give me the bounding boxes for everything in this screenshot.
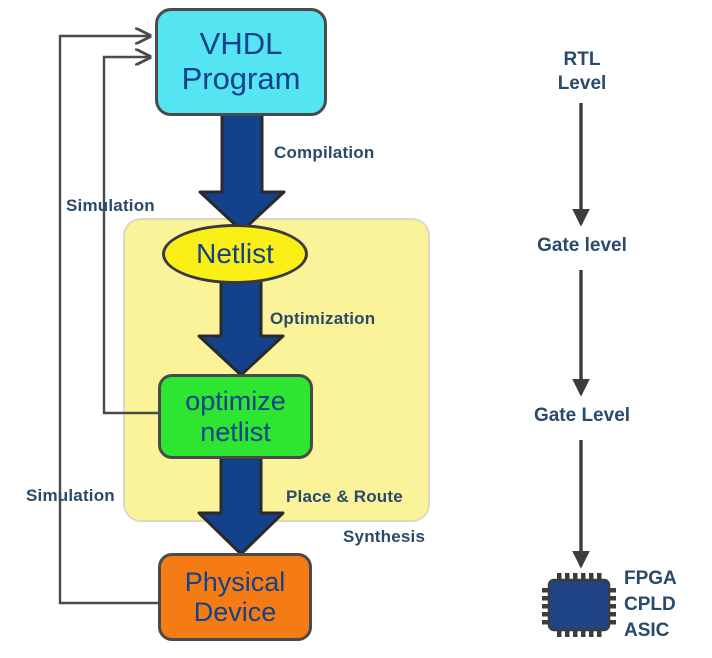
node-netlist[interactable]: Netlist: [162, 224, 308, 284]
node-optimize-netlist[interactable]: optimize netlist: [158, 374, 313, 459]
vhdl-label-line1: VHDL: [182, 27, 301, 62]
abstraction-label-gate-level-2: Gate Level: [520, 404, 644, 428]
edge-label-simulation-top: Simulation: [66, 196, 155, 216]
physical-label-line2: Device: [185, 597, 286, 627]
edge-label-compilation: Compilation: [274, 143, 374, 163]
chip-target-asic: ASIC: [624, 618, 677, 644]
edge-label-optimization: Optimization: [270, 309, 375, 329]
edge-label-synthesis: Synthesis: [343, 527, 425, 547]
physical-label-line1: Physical: [185, 567, 286, 597]
chip-target-cpld: CPLD: [624, 592, 677, 618]
node-vhdl-program[interactable]: VHDL Program: [155, 8, 327, 116]
block-arrow-compilation: [200, 113, 284, 231]
rtl-label-line2: Level: [540, 72, 624, 96]
rtl-label-line1: RTL: [540, 48, 624, 72]
node-physical-device[interactable]: Physical Device: [158, 553, 312, 641]
abstraction-label-rtl: RTL Level: [540, 48, 624, 96]
chip-target-fpga: FPGA: [624, 566, 677, 592]
diagram-canvas: VHDL Program Netlist optimize netlist Ph…: [0, 0, 712, 658]
edge-label-simulation-bottom: Simulation: [26, 486, 115, 506]
vhdl-label-line2: Program: [182, 62, 301, 97]
abstraction-label-gate-level-1: Gate level: [520, 234, 644, 258]
chip-target-labels: FPGA CPLD ASIC: [624, 566, 677, 645]
optimize-label-line2: netlist: [185, 417, 286, 447]
optimize-label-line1: optimize: [185, 386, 286, 416]
chip-icon: [542, 573, 616, 637]
netlist-label: Netlist: [196, 238, 274, 269]
edge-label-place-and-route: Place & Route: [286, 487, 403, 507]
